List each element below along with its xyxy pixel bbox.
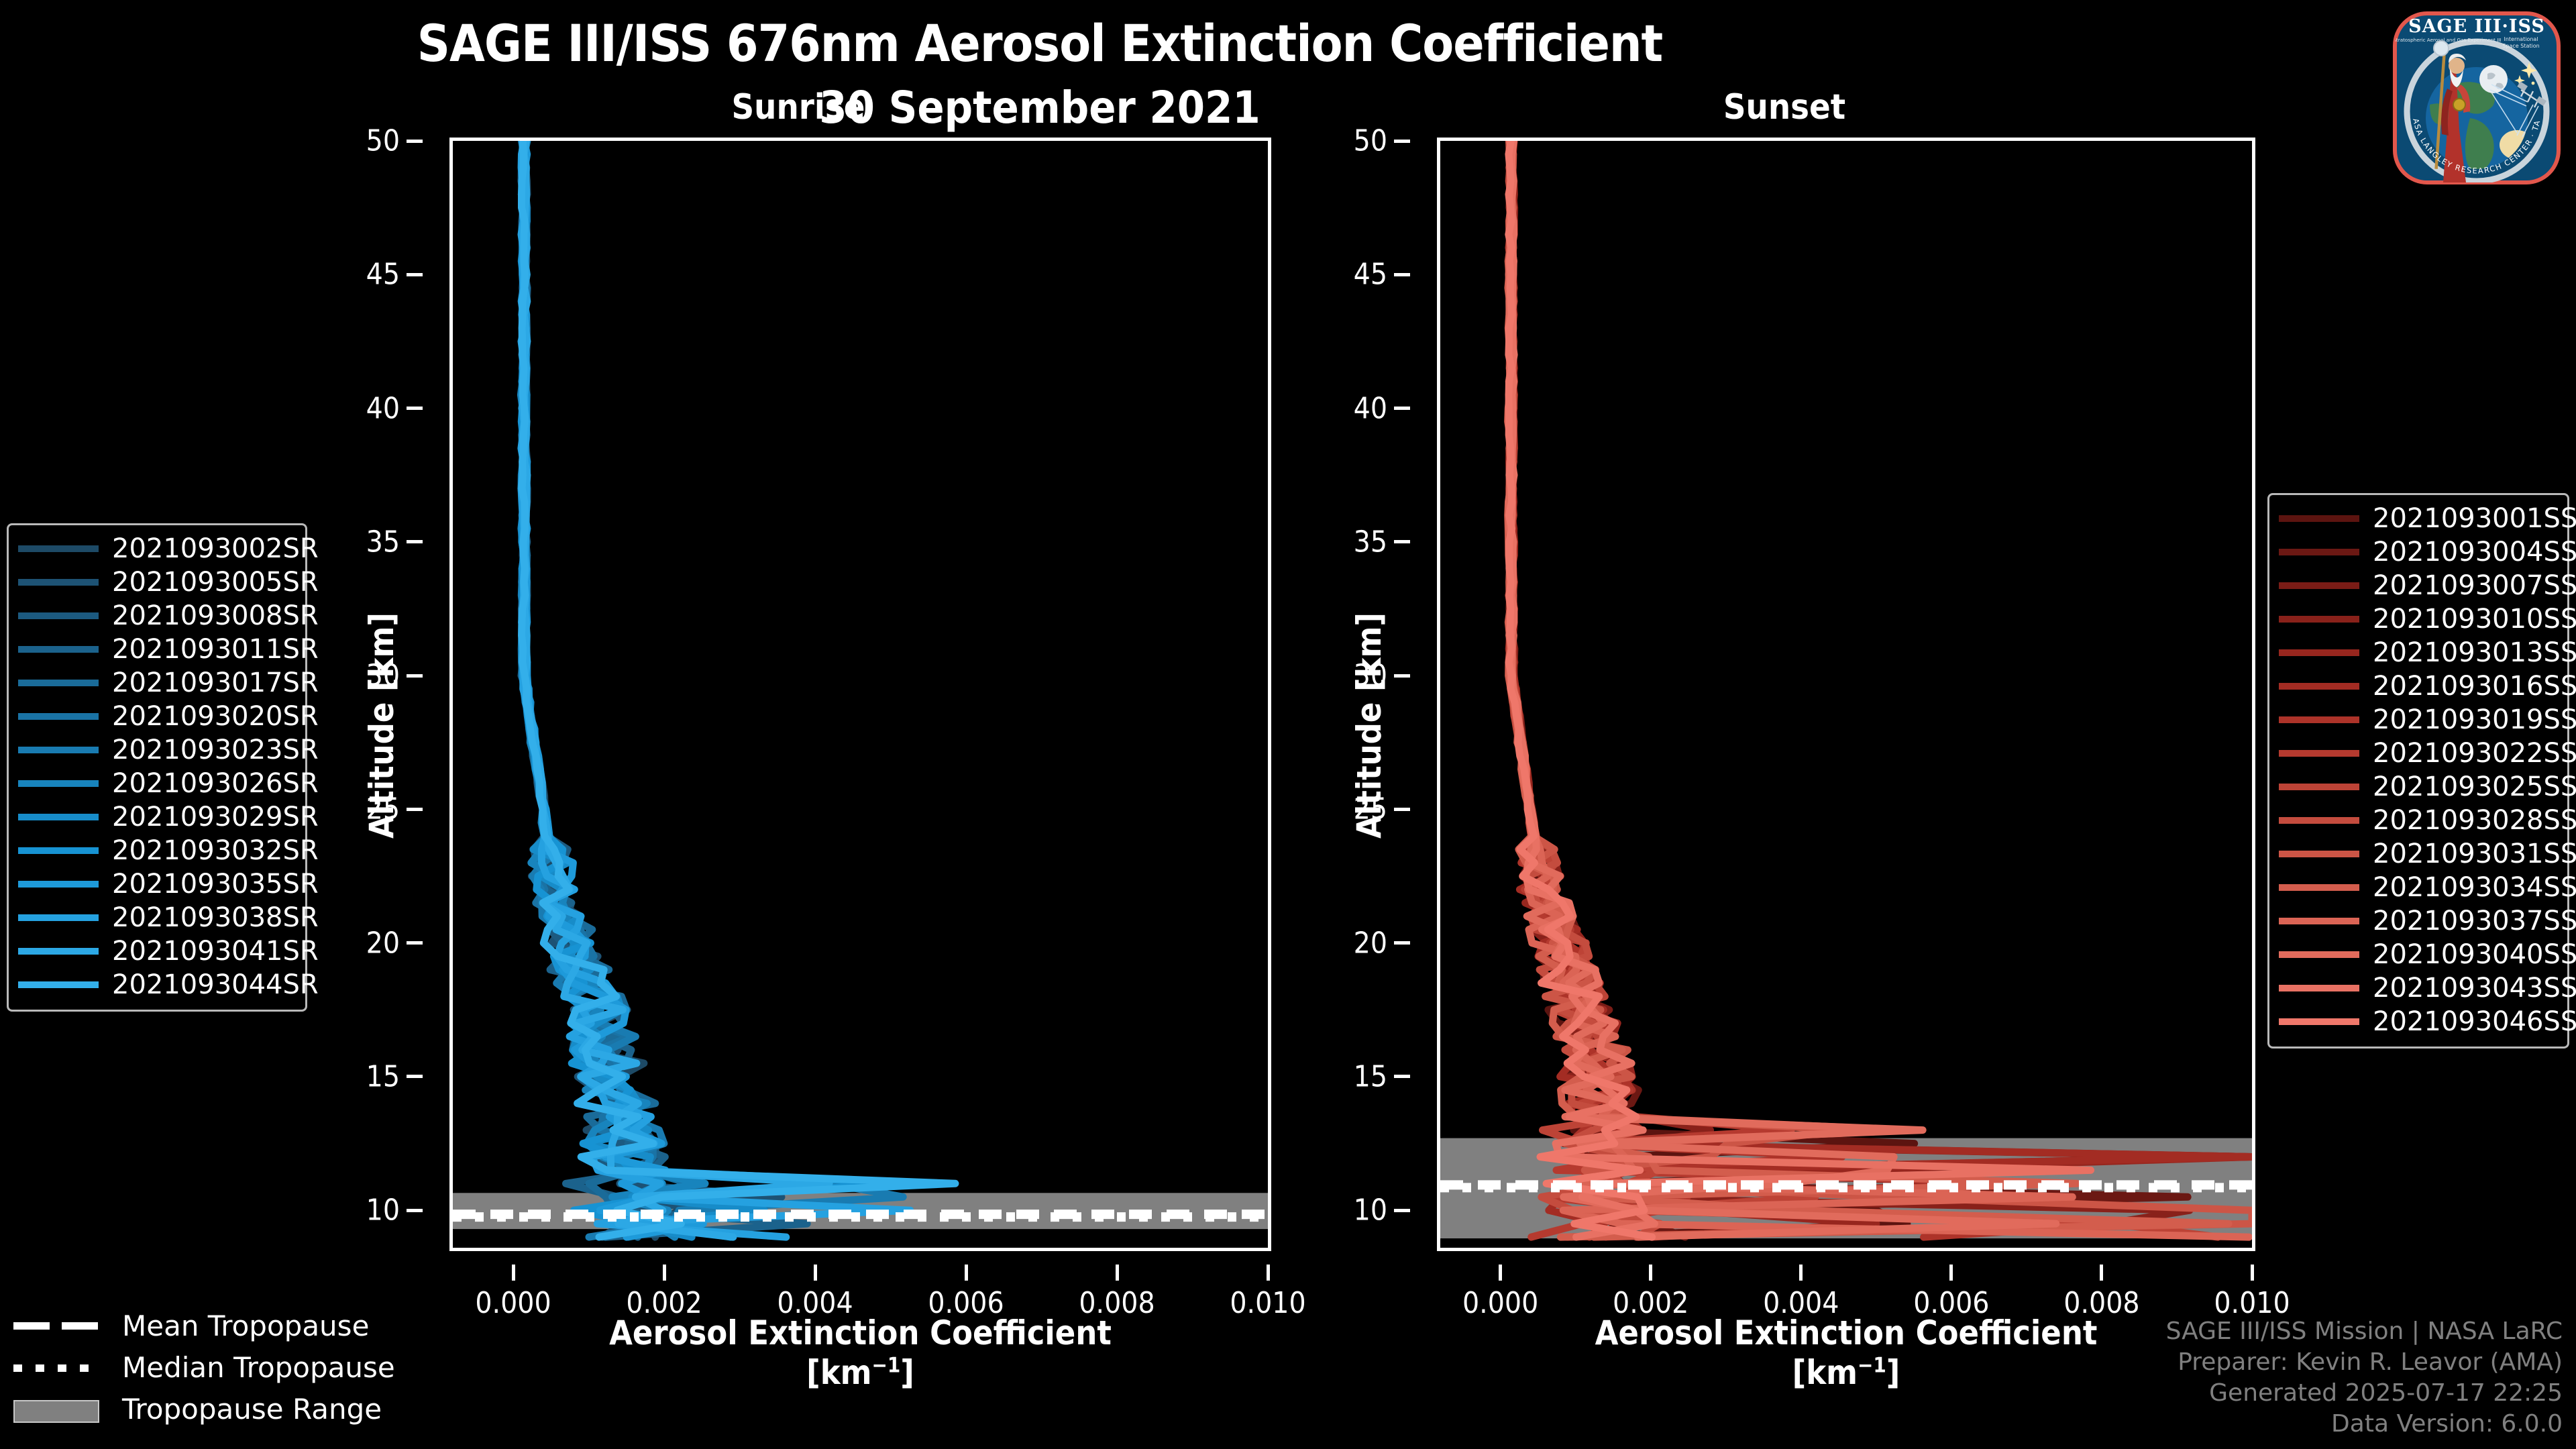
- legend-item[interactable]: 2021093023SR: [18, 733, 294, 767]
- legend-item[interactable]: 2021093025SS: [2279, 770, 2557, 804]
- legend-color-swatch-icon: [18, 579, 99, 586]
- y-tick-label: 35: [1354, 525, 1387, 559]
- y-tick-label: 45: [366, 258, 400, 292]
- legend-item-label: 2021093038SR: [112, 902, 319, 933]
- x-tick-mark: [1499, 1265, 1502, 1281]
- y-tick-label: 50: [366, 124, 400, 158]
- sunset-plot-canvas: [1440, 141, 2252, 1248]
- y-tick-mark: [1394, 808, 1410, 811]
- legend-item-label: 2021093023SR: [112, 735, 319, 765]
- y-tick-label: 15: [1354, 1059, 1387, 1093]
- y-tick-label: 20: [366, 926, 400, 960]
- svg-text:International: International: [2504, 36, 2538, 42]
- legend-color-swatch-icon: [2279, 918, 2359, 924]
- legend-item-label: 2021093010SS: [2373, 604, 2576, 635]
- legend-color-swatch-icon: [2279, 884, 2359, 891]
- y-tick-mark: [407, 273, 423, 276]
- legend-item[interactable]: 2021093038SR: [18, 901, 294, 934]
- y-tick-label: 10: [366, 1193, 400, 1228]
- legend-item-label: 2021093041SR: [112, 936, 319, 967]
- profile-line-2021093025SS: [1511, 141, 2218, 1237]
- legend-color-swatch-icon: [18, 780, 99, 787]
- legend-color-swatch-icon: [2279, 616, 2359, 623]
- legend-item[interactable]: 2021093008SR: [18, 599, 294, 633]
- x-tick-mark: [1116, 1265, 1119, 1281]
- sunset-x-axis-units: [km−1]: [1437, 1353, 2255, 1393]
- y-tick-mark: [1394, 407, 1410, 410]
- y-tick-label: 25: [1354, 792, 1387, 826]
- legend-color-swatch-icon: [18, 713, 99, 720]
- y-tick-mark: [407, 140, 423, 143]
- legend-color-swatch-icon: [18, 981, 99, 988]
- svg-text:Space Station: Space Station: [2502, 43, 2539, 49]
- legend-color-swatch-icon: [2279, 683, 2359, 690]
- sunrise-x-axis-label-text: Aerosol Extinction Coefficient: [449, 1313, 1271, 1353]
- legend-color-swatch-icon: [18, 747, 99, 753]
- profile-line-2021093029SR: [524, 141, 764, 1237]
- y-tick-mark: [407, 941, 423, 945]
- legend-color-swatch-icon: [2279, 649, 2359, 656]
- legend-item[interactable]: 2021093001SS: [2279, 502, 2557, 535]
- legend-item[interactable]: 2021093044SR: [18, 968, 294, 1002]
- x-tick-mark: [663, 1265, 666, 1281]
- sunset-x-axis-label-text: Aerosol Extinction Coefficient: [1437, 1313, 2255, 1353]
- y-tick-label: 35: [366, 525, 400, 559]
- legend-item-label: 2021093043SS: [2373, 973, 2576, 1004]
- legend-item-label: 2021093017SR: [112, 667, 319, 698]
- legend-item[interactable]: 2021093026SR: [18, 767, 294, 800]
- profile-line-2021093043SS: [1511, 141, 2090, 1237]
- y-tick-mark: [1394, 674, 1410, 678]
- legend-item-label: 2021093032SR: [112, 835, 319, 866]
- legend-label-mean-tropopause: Mean Tropopause: [122, 1309, 369, 1342]
- legend-color-swatch-icon: [2279, 985, 2359, 991]
- y-tick-label: 20: [1354, 926, 1387, 960]
- footer-generated: Generated 2025-07-17 22:25: [2166, 1378, 2563, 1409]
- svg-text:Stratospheric Aerosol and Gas: Stratospheric Aerosol and Gas Experiment…: [2393, 37, 2501, 43]
- legend-color-swatch-icon: [18, 914, 99, 921]
- y-tick-label: 50: [1354, 124, 1387, 158]
- legend-color-swatch-icon: [18, 814, 99, 820]
- sunrise-event-legend[interactable]: 2021093002SR2021093005SR2021093008SR2021…: [7, 523, 307, 1012]
- legend-color-swatch-icon: [18, 847, 99, 854]
- sunset-x-tick-labels: 0.0000.0020.0040.0060.0080.010: [1437, 1265, 2255, 1305]
- legend-item-label: 2021093034SS: [2373, 872, 2576, 903]
- y-tick-mark: [1394, 941, 1410, 945]
- legend-item-label: 2021093008SR: [112, 600, 319, 631]
- x-tick-mark: [2100, 1265, 2103, 1281]
- sunrise-x-tick-labels: 0.0000.0020.0040.0060.0080.010: [449, 1265, 1271, 1305]
- legend-color-swatch-icon: [18, 545, 99, 552]
- y-tick-label: 25: [366, 792, 400, 826]
- legend-item[interactable]: 2021093019SS: [2279, 703, 2557, 737]
- legend-item[interactable]: 2021093010SS: [2279, 602, 2557, 636]
- svg-text:SAGE III·ISS: SAGE III·ISS: [2408, 16, 2545, 37]
- legend-color-swatch-icon: [2279, 716, 2359, 723]
- legend-item-label: 2021093004SS: [2373, 537, 2576, 568]
- left-panel-subtitle: Sunrise: [664, 87, 932, 127]
- sunrise-x-axis-units: [km−1]: [449, 1353, 1271, 1393]
- legend-label-tropopause-range: Tropopause Range: [122, 1393, 382, 1426]
- profile-line-2021093040SS: [1509, 141, 2056, 1237]
- x-tick-mark: [1949, 1265, 1953, 1281]
- legend-item-label: 2021093020SR: [112, 701, 319, 732]
- x-tick-mark: [2251, 1265, 2254, 1281]
- legend-color-swatch-icon: [2279, 784, 2359, 790]
- legend-item-label: 2021093026SR: [112, 768, 319, 799]
- legend-color-swatch-icon: [18, 646, 99, 653]
- y-tick-mark: [1394, 1075, 1410, 1078]
- legend-item[interactable]: 2021093002SR: [18, 532, 294, 566]
- footer-credits: SAGE III/ISS Mission | NASA LaRC Prepare…: [2166, 1316, 2563, 1440]
- legend-item-label: 2021093046SS: [2373, 1006, 2576, 1037]
- gray-band-swatch-icon: [13, 1400, 107, 1417]
- legend-item-label: 2021093016SS: [2373, 671, 2576, 702]
- profile-line-2021093002SR: [525, 141, 868, 1237]
- legend-color-swatch-icon: [2279, 1018, 2359, 1025]
- y-tick-label: 40: [366, 391, 400, 425]
- legend-item-label: 2021093013SS: [2373, 637, 2576, 668]
- legend-item-label: 2021093029SR: [112, 802, 319, 833]
- legend-item[interactable]: 2021093034SS: [2279, 871, 2557, 904]
- legend-item-label: 2021093035SR: [112, 869, 319, 900]
- legend-color-swatch-icon: [2279, 817, 2359, 824]
- y-tick-mark: [407, 407, 423, 410]
- legend-color-swatch-icon: [18, 612, 99, 619]
- legend-item[interactable]: 2021093031SS: [2279, 837, 2557, 871]
- x-tick-mark: [512, 1265, 515, 1281]
- y-tick-mark: [407, 674, 423, 678]
- legend-item-label: 2021093044SR: [112, 969, 319, 1000]
- legend-item[interactable]: 2021093007SS: [2279, 569, 2557, 602]
- y-tick-label: 30: [366, 659, 400, 693]
- legend-item[interactable]: 2021093013SS: [2279, 636, 2557, 669]
- legend-item[interactable]: 2021093040SS: [2279, 938, 2557, 971]
- legend-item-label: 2021093007SS: [2373, 570, 2576, 601]
- legend-item[interactable]: 2021093022SS: [2279, 737, 2557, 770]
- legend-item-label: 2021093028SS: [2373, 805, 2576, 836]
- legend-item[interactable]: 2021093041SR: [18, 934, 294, 968]
- y-tick-mark: [407, 808, 423, 811]
- legend-item-median-tropopause[interactable]: Median Tropopause: [13, 1346, 395, 1388]
- legend-item-label: 2021093031SS: [2373, 839, 2576, 869]
- legend-item-mean-tropopause[interactable]: Mean Tropopause: [13, 1305, 395, 1346]
- profile-line-2021093005SR: [522, 141, 782, 1237]
- y-tick-mark: [407, 540, 423, 543]
- legend-item[interactable]: 2021093028SS: [2279, 804, 2557, 837]
- x-tick-mark: [965, 1265, 968, 1281]
- right-panel-subtitle: Sunset: [1650, 87, 1919, 127]
- legend-item[interactable]: 2021093046SS: [2279, 1005, 2557, 1038]
- y-tick-mark: [407, 1075, 423, 1078]
- profile-line-2021093041SR: [524, 141, 829, 1237]
- legend-item[interactable]: 2021093029SR: [18, 800, 294, 834]
- legend-color-swatch-icon: [18, 680, 99, 686]
- legend-item[interactable]: 2021093011SR: [18, 633, 294, 666]
- legend-item[interactable]: 2021093043SS: [2279, 971, 2557, 1005]
- y-tick-label: 40: [1354, 391, 1387, 425]
- legend-color-swatch-icon: [2279, 515, 2359, 522]
- x-tick-mark: [1649, 1265, 1652, 1281]
- legend-item[interactable]: 2021093035SR: [18, 867, 294, 901]
- y-tick-label: 15: [366, 1059, 400, 1093]
- legend-label-median-tropopause: Median Tropopause: [122, 1351, 395, 1384]
- footer-preparer: Preparer: Kevin R. Leavor (AMA): [2166, 1347, 2563, 1378]
- sunset-event-legend[interactable]: 2021093001SS2021093004SS2021093007SS2021…: [2267, 493, 2569, 1049]
- footer-mission: SAGE III/ISS Mission | NASA LaRC: [2166, 1316, 2563, 1347]
- y-tick-mark: [1394, 540, 1410, 543]
- legend-item[interactable]: 2021093016SS: [2279, 669, 2557, 703]
- profile-line-2021093011SR: [521, 141, 807, 1237]
- x-tick-mark: [814, 1265, 817, 1281]
- legend-item-label: 2021093022SS: [2373, 738, 2576, 769]
- x-tick-mark: [1799, 1265, 1803, 1281]
- page-title: SAGE III/ISS 676nm Aerosol Extinction Co…: [0, 13, 2080, 73]
- x-tick-mark: [1267, 1265, 1270, 1281]
- sunrise-x-axis-label: Aerosol Extinction Coefficient [km−1]: [449, 1313, 1271, 1393]
- y-tick-mark: [407, 1209, 423, 1212]
- legend-item-label: 2021093005SR: [112, 567, 319, 598]
- legend-item[interactable]: 2021093020SR: [18, 700, 294, 733]
- sunset-x-axis-label: Aerosol Extinction Coefficient [km−1]: [1437, 1313, 2255, 1393]
- legend-item[interactable]: 2021093004SS: [2279, 535, 2557, 569]
- sage-iii-iss-mission-patch-logo: SAGE III·ISS Stratospheric Aerosol and G…: [2390, 4, 2564, 185]
- legend-item-label: 2021093011SR: [112, 634, 319, 665]
- y-tick-label: 30: [1354, 659, 1387, 693]
- legend-color-swatch-icon: [18, 948, 99, 955]
- y-tick-mark: [1394, 273, 1410, 276]
- legend-item[interactable]: 2021093032SR: [18, 834, 294, 867]
- dashed-line-icon: [13, 1317, 107, 1334]
- y-tick-label: 45: [1354, 258, 1387, 292]
- tropopause-legend[interactable]: Mean Tropopause Median Tropopause Tropop…: [13, 1305, 395, 1430]
- legend-color-swatch-icon: [2279, 951, 2359, 958]
- legend-item-label: 2021093025SS: [2373, 771, 2576, 802]
- legend-item-label: 2021093019SS: [2373, 704, 2576, 735]
- footer-data-version: Data Version: 6.0.0: [2166, 1409, 2563, 1440]
- legend-item[interactable]: 2021093005SR: [18, 566, 294, 599]
- legend-item-label: 2021093002SR: [112, 533, 319, 564]
- sunrise-plot-canvas: [453, 141, 1268, 1248]
- legend-item[interactable]: 2021093017SR: [18, 666, 294, 700]
- legend-color-swatch-icon: [2279, 851, 2359, 857]
- profile-line-2021093031SS: [1511, 141, 2252, 1237]
- dotted-line-icon: [13, 1358, 107, 1376]
- legend-item-tropopause-range[interactable]: Tropopause Range: [13, 1388, 395, 1430]
- legend-color-swatch-icon: [2279, 549, 2359, 555]
- legend-color-swatch-icon: [2279, 750, 2359, 757]
- y-tick-mark: [1394, 1209, 1410, 1212]
- legend-item-label: 2021093040SS: [2373, 939, 2576, 970]
- y-tick-mark: [1394, 140, 1410, 143]
- legend-item[interactable]: 2021093037SS: [2279, 904, 2557, 938]
- legend-color-swatch-icon: [18, 881, 99, 888]
- legend-item-label: 2021093001SS: [2373, 503, 2576, 534]
- y-tick-label: 10: [1354, 1193, 1387, 1228]
- sunset-y-tick-labels: 101520253035404550: [1283, 138, 1410, 1251]
- legend-item-label: 2021093037SS: [2373, 906, 2576, 936]
- legend-color-swatch-icon: [2279, 582, 2359, 589]
